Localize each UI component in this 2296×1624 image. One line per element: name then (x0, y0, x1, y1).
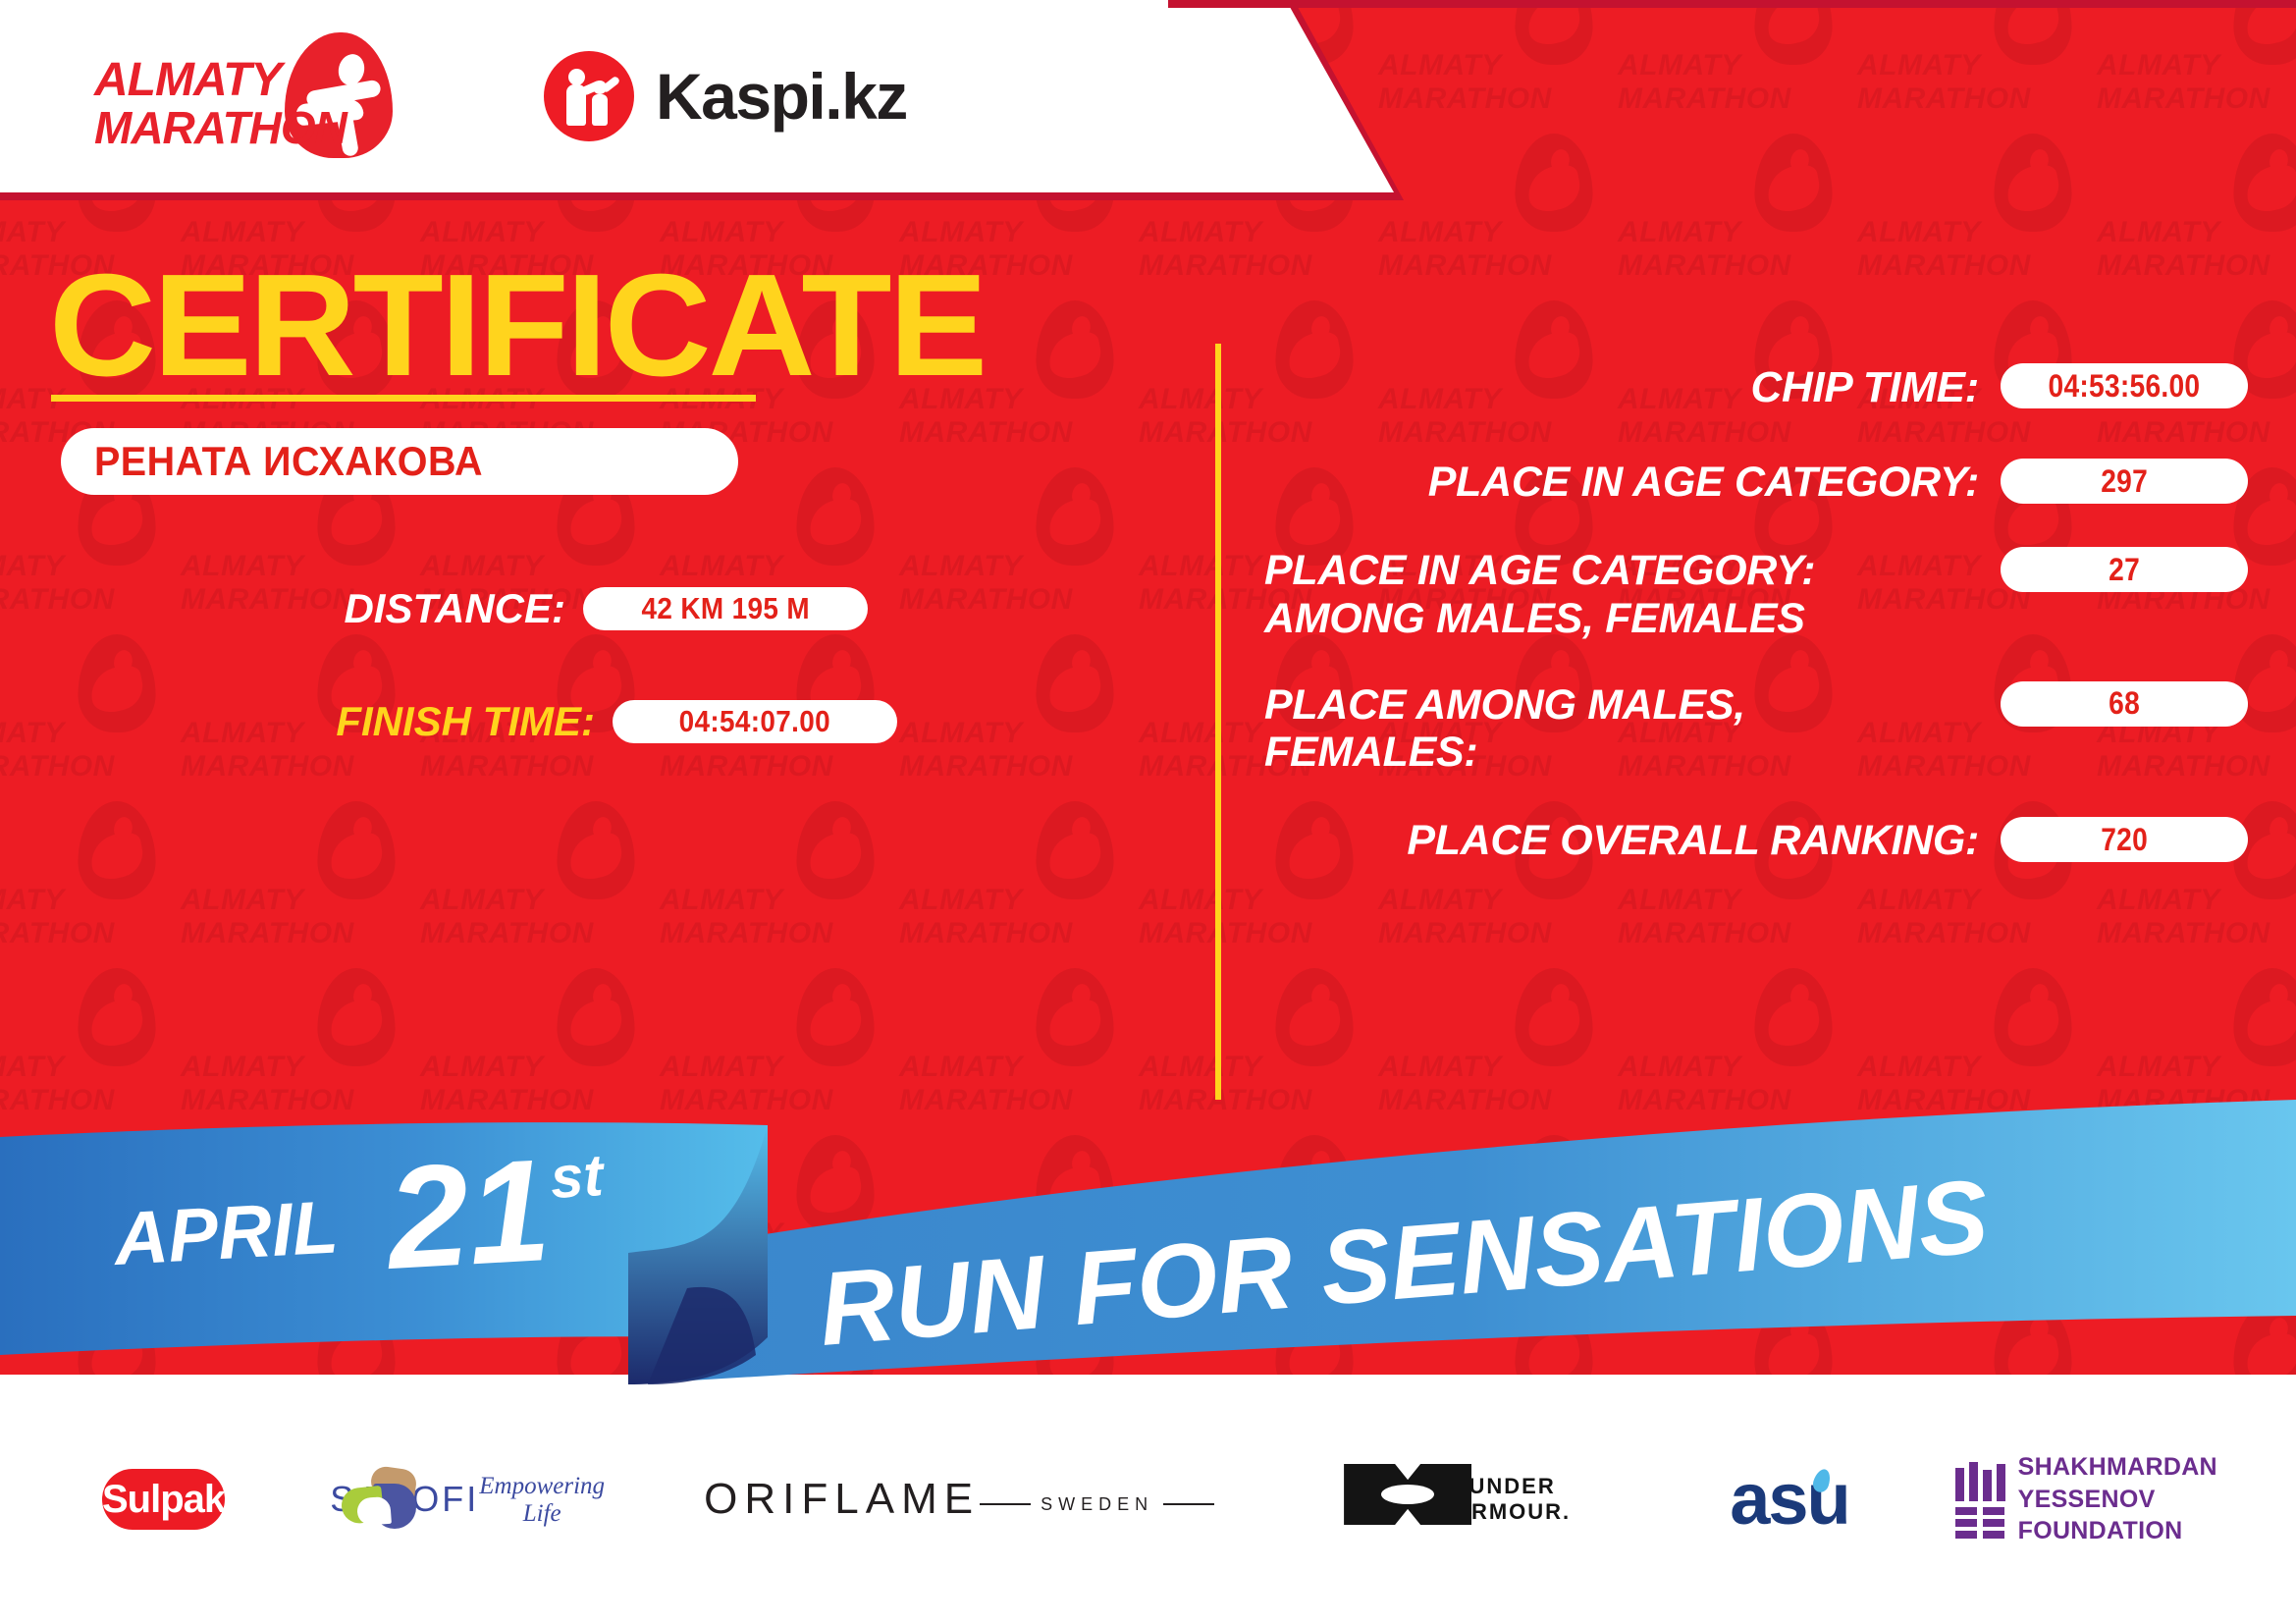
stat-label: PLACE IN AGE CATEGORY: (1256, 459, 2001, 506)
sponsor-logo-sulpak: Sulpak (102, 1469, 225, 1530)
sponsor-logo-oriflame: ORIFLAME SWEDEN (704, 1475, 1214, 1524)
watermark-line-2: MARATHON (2097, 251, 2296, 281)
stat-value: 68 (2109, 685, 2140, 722)
watermark-drop-icon (1275, 968, 1353, 1066)
watermark-line-1: ALMATY (1618, 51, 1857, 81)
watermark-line-2: MARATHON (1857, 84, 2097, 114)
watermark-tile: ALMATYMARATHON (1857, 0, 2097, 128)
watermark-line-1: ALMATY (2097, 218, 2296, 247)
stat-row: PLACE OVERALL RANKING:720 (1256, 817, 2248, 864)
page-title: CERTIFICATE (49, 253, 985, 399)
distance-value: 42 KM 195 M (641, 591, 809, 626)
oriflame-wordmark: ORIFLAME (704, 1475, 980, 1524)
watermark-drop-icon (1754, 0, 1832, 65)
finish-time-label: FINISH TIME: (271, 698, 595, 745)
stat-value-pill: 27 (2001, 547, 2248, 592)
oriflame-tagline-row: SWEDEN (980, 1494, 1214, 1515)
finish-time-value: 04:54:07.00 (679, 704, 830, 739)
stat-value-pill: 297 (2001, 459, 2248, 504)
stat-label: PLACE OVERALL RANKING: (1256, 817, 2001, 864)
stat-label: PLACE AMONG MALES,FEMALES: (1256, 681, 2001, 776)
participant-name-value: РЕНАТА ИСХАКОВА (94, 438, 483, 485)
oriflame-tagline: SWEDEN (1041, 1494, 1153, 1515)
watermark-drop-icon (1515, 134, 1592, 232)
watermark-tile: ALMATYMARATHON (2097, 128, 2296, 295)
distance-label: DISTANCE: (271, 585, 565, 632)
watermark-drop-icon (1754, 968, 1832, 1066)
vertical-divider (1215, 344, 1221, 1100)
watermark-line-2: MARATHON (1618, 84, 1857, 114)
watermark-drop-icon (1754, 134, 1832, 232)
logo-line-marathon: MARATHON (94, 105, 340, 152)
watermark-drop-icon (1994, 0, 2071, 65)
logo-line-almaty: ALMATY (94, 56, 340, 105)
stat-value: 04:53:56.00 (2049, 368, 2201, 405)
watermark-line-2: MARATHON (1378, 251, 1618, 281)
asu-wordmark: asu (1730, 1463, 1849, 1536)
certificate-left-column: CERTIFICATE РЕНАТА ИСХАКОВА DISTANCE: 42… (0, 192, 1207, 1125)
stat-label: PLACE IN AGE CATEGORY:AMONG MALES, FEMAL… (1256, 547, 2001, 641)
watermark-line-2: MARATHON (2097, 84, 2296, 114)
sponsor-logo-sanofi: SANOFI Empowering Life (364, 1468, 570, 1531)
participant-name-field: РЕНАТА ИСХАКОВА (61, 428, 738, 495)
svg-text:APRIL: APRIL (110, 1185, 340, 1281)
almaty-marathon-wordmark: ALMATY MARATHON (94, 56, 340, 152)
svg-text:st: st (549, 1142, 608, 1211)
sponsor-logo-yessenov-foundation: SHAKHMARDAN YESSENOV FOUNDATION (1955, 1451, 2239, 1547)
watermark-tile: ALMATYMARATHON (1378, 128, 1618, 295)
watermark-line-1: ALMATY (1378, 218, 1618, 247)
stat-row: PLACE IN AGE CATEGORY:297 (1256, 459, 2248, 506)
watermark-drop-icon (1994, 968, 2071, 1066)
stat-row: PLACE IN AGE CATEGORY:AMONG MALES, FEMAL… (1256, 547, 2248, 641)
stat-value-pill: 04:53:56.00 (2001, 363, 2248, 408)
watermark-line-2: MARATHON (1378, 919, 1618, 948)
yessenov-wordmark: SHAKHMARDAN YESSENOV FOUNDATION (2018, 1451, 2239, 1547)
stat-value-pill: 720 (2001, 817, 2248, 862)
watermark-line-2: MARATHON (1618, 251, 1857, 281)
distance-value-pill: 42 KM 195 M (583, 587, 868, 630)
title-underline (51, 395, 756, 402)
stat-label: CHIP TIME: (1256, 363, 2001, 411)
header-logo-row: ALMATY MARATHON Kaspi.kz (0, 0, 1276, 192)
yessenov-line-2: FOUNDATION (2018, 1515, 2239, 1547)
watermark-drop-icon (1994, 134, 2071, 232)
distance-row: DISTANCE: 42 KM 195 M (271, 585, 868, 632)
watermark-tile: ALMATYMARATHON (1618, 128, 1857, 295)
watermark-line-1: ALMATY (1378, 51, 1618, 81)
watermark-line-2: MARATHON (1378, 84, 1618, 114)
stat-value: 720 (2101, 822, 2148, 858)
watermark-line-2: MARATHON (1857, 919, 2097, 948)
sponsor-bar: Sulpak SANOFI Empowering Life ORIFLAME S… (0, 1375, 2296, 1624)
kaspi-logo: Kaspi.kz (544, 51, 907, 141)
kaspi-wordmark: Kaspi.kz (656, 59, 907, 134)
sponsor-logo-under-armour: UNDER ARMOUR. (1344, 1464, 1588, 1535)
yessenov-bars-icon (1955, 1462, 1995, 1537)
svg-text:21: 21 (381, 1129, 555, 1300)
finish-time-row: FINISH TIME: 04:54:07.00 (271, 698, 897, 745)
stat-row: PLACE AMONG MALES,FEMALES:68 (1256, 681, 2248, 776)
yessenov-line-1: SHAKHMARDAN YESSENOV (2018, 1451, 2239, 1515)
watermark-line-1: ALMATY (1618, 218, 1857, 247)
watermark-tile: ALMATYMARATHON (1378, 0, 1618, 128)
watermark-drop-icon (1515, 968, 1592, 1066)
watermark-drop-icon (2233, 0, 2296, 65)
under-armour-icon (1344, 1464, 1436, 1525)
watermark-drop-icon (2233, 968, 2296, 1066)
watermark-line-1: ALMATY (1857, 218, 2097, 247)
watermark-line-2: MARATHON (1857, 251, 2097, 281)
oriflame-rule-left (980, 1503, 1031, 1505)
oriflame-rule-right (1163, 1503, 1214, 1505)
stat-value: 27 (2109, 552, 2140, 588)
kaspi-two-figures-icon (544, 51, 634, 141)
stat-label-line-1: PLACE IN AGE CATEGORY: (1264, 547, 1979, 594)
watermark-tile: ALMATYMARATHON (1857, 128, 2097, 295)
stat-value: 297 (2101, 463, 2148, 500)
watermark-line-1: ALMATY (2097, 51, 2296, 81)
event-ribbon: APRIL 21 st RUN FOR SENSATIONS (0, 1060, 2296, 1394)
top-red-strip (1168, 0, 2296, 8)
watermark-line-2: MARATHON (2097, 919, 2296, 948)
stat-row: CHIP TIME:04:53:56.00 (1256, 363, 2248, 411)
results-stats-list: CHIP TIME:04:53:56.00PLACE IN AGE CATEGO… (1256, 363, 2248, 911)
finish-time-value-pill: 04:54:07.00 (613, 700, 897, 743)
stat-label-line-1: PLACE AMONG MALES, (1264, 681, 1979, 729)
watermark-line-2: MARATHON (1618, 919, 1857, 948)
watermark-tile: ALMATYMARATHON (2097, 0, 2296, 128)
sulpak-wordmark: Sulpak (102, 1478, 225, 1522)
almaty-marathon-logo: ALMATY MARATHON (94, 32, 418, 160)
watermark-drop-icon (1515, 0, 1592, 65)
certificate-page: ALMATYMARATHONALMATYMARATHONALMATYMARATH… (0, 0, 2296, 1624)
watermark-line-1: ALMATY (1857, 51, 2097, 81)
stat-label-line-2: FEMALES: (1264, 729, 1979, 776)
watermark-tile: ALMATYMARATHON (1618, 0, 1857, 128)
stat-value-pill: 68 (2001, 681, 2248, 727)
sponsor-logo-asu: asu (1730, 1463, 1830, 1536)
watermark-drop-icon (2233, 134, 2296, 232)
stat-label-line-2: AMONG MALES, FEMALES (1264, 595, 1979, 642)
sanofi-tagline: Empowering Life (479, 1473, 605, 1528)
